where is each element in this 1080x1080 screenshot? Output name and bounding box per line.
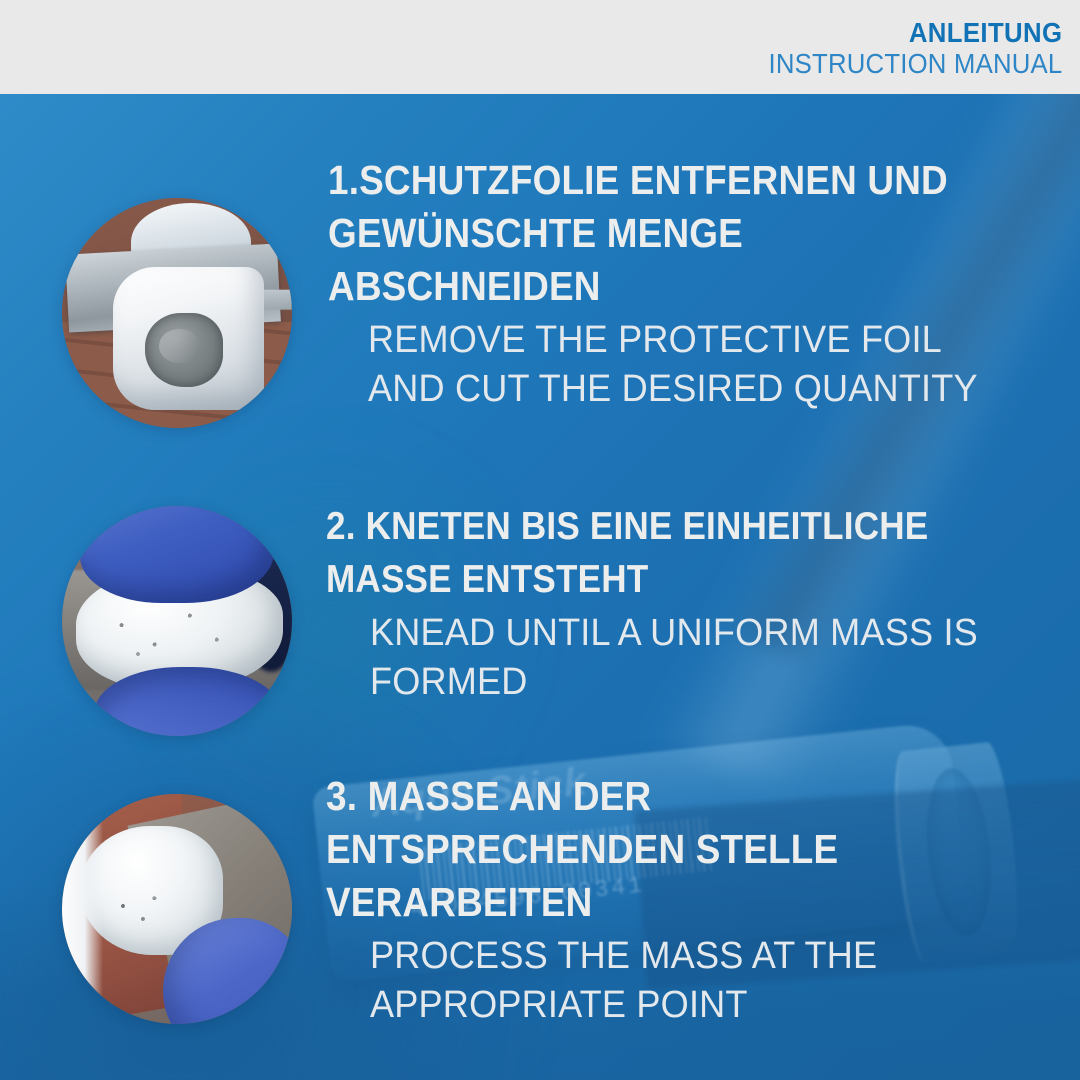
photo1-putty-core (145, 313, 223, 387)
photo-kneading-putty-with-blue-gloves (62, 506, 292, 736)
header-title-english: INSTRUCTION MANUAL (768, 48, 1062, 80)
steps-container: 1.SCHUTZFOLIE ENTFERNEN UND GEWÜNSCHTE M… (0, 94, 1080, 1080)
step-2-title-english: KNEAD UNTIL A UNIFORM MASS IS FORMED (370, 609, 1031, 707)
photo-applying-putty-to-brick-surface (62, 794, 292, 1024)
step-2-title-german: 2. KNETEN BIS EINE EINHEITLICHE MASSE EN… (326, 500, 992, 606)
step-1-title-german: 1.SCHUTZFOLIE ENTFERNEN UND GEWÜNSCHTE M… (328, 154, 958, 313)
photo3-white-edge (62, 812, 103, 1010)
photo-cutting-putty-stick-with-knife (62, 198, 292, 428)
step-2-text: 2. KNETEN BIS EINE EINHEITLICHE MASSE EN… (326, 500, 1066, 707)
step-3-photo (62, 794, 292, 1024)
step-3-title-german: 3. MASSE AN DER ENTSPRECHENDEN STELLE VE… (326, 770, 956, 929)
step-3-title-english: PROCESS THE MASS AT THE APPROPRIATE POIN… (370, 932, 993, 1030)
step-2-photo (62, 506, 292, 736)
step-1-text: 1.SCHUTZFOLIE ENTFERNEN UND GEWÜNSCHTE M… (328, 154, 1028, 414)
step-1-title-english: REMOVE THE PROTECTIVE FOIL AND CUT THE D… (368, 316, 995, 414)
step-1-photo (62, 198, 292, 428)
header-titles: ANLEITUNG INSTRUCTION MANUAL (743, 18, 1062, 80)
photo2-glove-upper (80, 506, 273, 603)
instruction-manual-poster: Aqua Stick 4 024596 00341 W E I C O N ® … (0, 0, 1080, 1080)
step-3-text: 3. MASSE AN DER ENTSPRECHENDEN STELLE VE… (326, 770, 1026, 1030)
header-title-german: ANLEITUNG (768, 18, 1062, 48)
